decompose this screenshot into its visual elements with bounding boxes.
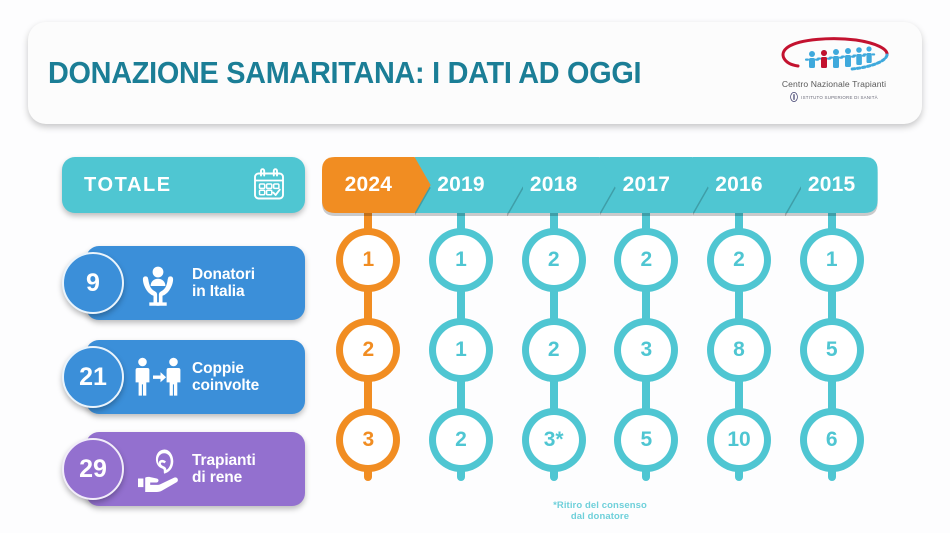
year-header-2017[interactable]: 2017: [600, 157, 709, 213]
cnt-people-swoosh-logo-icon: [768, 36, 900, 78]
data-node-donatori-in-italia-2016[interactable]: 2: [714, 235, 764, 285]
footnote-line1: *Ritiro del consenso: [322, 500, 878, 511]
year-label: 2016: [715, 173, 763, 197]
stat-label-line2: di rene: [192, 469, 256, 486]
year-header-2018[interactable]: 2018: [507, 157, 616, 213]
cnt-logo: Centro Nazionale Trapianti Istituto Supe…: [768, 36, 900, 110]
data-node-coppie-coinvolte-2019[interactable]: 1: [436, 325, 486, 375]
stat-badge-coppie: 21: [62, 346, 124, 408]
data-node-trapianti-di-rene-2016[interactable]: 10: [714, 415, 764, 465]
stat-card-coppie-label: Coppie coinvolte: [192, 360, 259, 395]
data-node-donatori-in-italia-2024[interactable]: 1: [343, 235, 393, 285]
stat-badge-trapianti: 29: [62, 438, 124, 500]
year-label: 2019: [437, 173, 485, 197]
data-node-coppie-coinvolte-2015[interactable]: 5: [807, 325, 857, 375]
data-node-trapianti-di-rene-2024[interactable]: 3: [343, 415, 393, 465]
timeline-grid: 123112223*2352810156: [322, 213, 878, 495]
data-node-trapianti-di-rene-2017[interactable]: 5: [621, 415, 671, 465]
stat-label-line1: Trapianti: [192, 452, 256, 469]
data-node-donatori-in-italia-2018[interactable]: 2: [529, 235, 579, 285]
year-label: 2018: [530, 173, 578, 197]
two-people-arrow-icon: [132, 353, 184, 401]
year-ribbon: 202420192018201720162015: [322, 157, 878, 213]
stat-badge-donatori: 9: [62, 252, 124, 314]
year-header-2024[interactable]: 2024: [322, 157, 431, 213]
data-node-coppie-coinvolte-2017[interactable]: 3: [621, 325, 671, 375]
logo-organization-name: Centro Nazionale Trapianti: [768, 79, 900, 89]
stat-card-trapianti-label: Trapianti di rene: [192, 452, 256, 487]
data-node-donatori-in-italia-2019[interactable]: 1: [436, 235, 486, 285]
data-node-donatori-in-italia-2015[interactable]: 1: [807, 235, 857, 285]
data-node-trapianti-di-rene-2015[interactable]: 6: [807, 415, 857, 465]
data-node-trapianti-di-rene-2018[interactable]: 3*: [529, 415, 579, 465]
data-node-donatori-in-italia-2017[interactable]: 2: [621, 235, 671, 285]
stat-card-donatori-label: Donatori in Italia: [192, 266, 255, 301]
data-node-coppie-coinvolte-2016[interactable]: 8: [714, 325, 764, 375]
header-card: DONAZIONE SAMARITANA: I DATI AD OGGI Cen…: [28, 22, 922, 124]
data-node-coppie-coinvolte-2024[interactable]: 2: [343, 325, 393, 375]
iss-seal-icon: [790, 92, 798, 102]
hand-holding-kidney-icon: [132, 445, 184, 493]
totale-header-card: TOTALE: [62, 157, 305, 213]
year-header-2015[interactable]: 2015: [785, 157, 894, 213]
stat-label-line2: coinvolte: [192, 377, 259, 394]
year-header-2016[interactable]: 2016: [693, 157, 802, 213]
year-label: 2015: [808, 173, 856, 197]
footnote-line2: dal donatore: [322, 511, 878, 522]
stat-label-line1: Coppie: [192, 360, 259, 377]
data-node-trapianti-di-rene-2019[interactable]: 2: [436, 415, 486, 465]
hands-holding-person-icon: [132, 259, 184, 307]
stat-label-line2: in Italia: [192, 283, 255, 300]
page-title-text: DONAZIONE SAMARITANA: I DATI AD OGGI: [48, 55, 641, 91]
logo-institute-name: Istituto Superiore di Sanità: [801, 95, 878, 100]
year-header-2019[interactable]: 2019: [415, 157, 524, 213]
year-label: 2024: [345, 173, 393, 197]
data-node-coppie-coinvolte-2018[interactable]: 2: [529, 325, 579, 375]
calendar-check-icon: [251, 167, 287, 203]
page-title: DONAZIONE SAMARITANA: I DATI AD OGGI: [48, 55, 686, 91]
year-label: 2017: [623, 173, 671, 197]
totale-label: TOTALE: [84, 174, 172, 197]
footnote: *Ritiro del consenso dal donatore: [322, 500, 878, 523]
stat-label-line1: Donatori: [192, 266, 255, 283]
